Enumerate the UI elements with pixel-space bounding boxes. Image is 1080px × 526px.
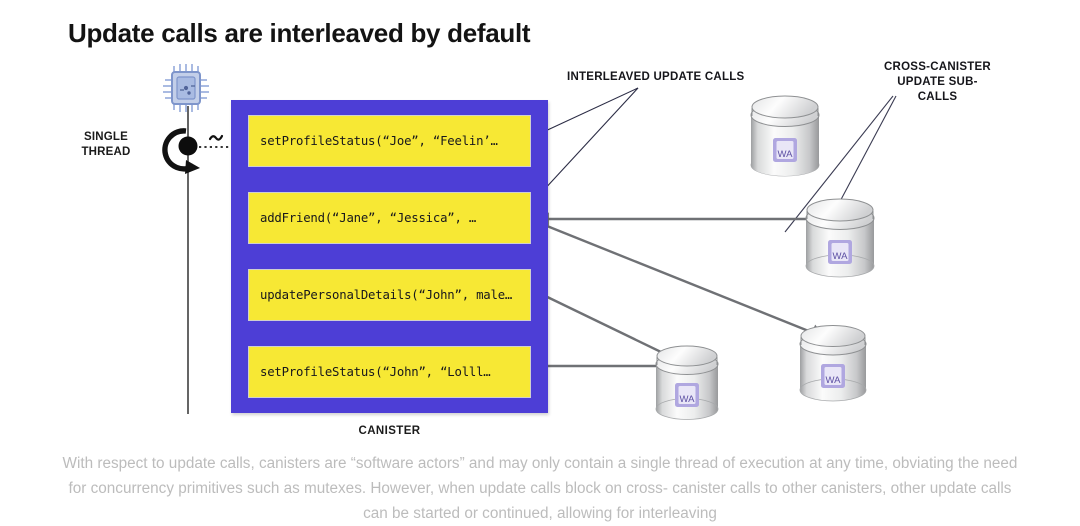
annotation-cross-canister-line1: CROSS-CANISTER — [880, 60, 995, 75]
annotation-cross-canister-sub-calls: CROSS-CANISTER UPDATE SUB-CALLS — [880, 60, 995, 105]
thread-pointer-dot — [179, 137, 198, 156]
remote-canister-bottom: WA — [656, 346, 718, 420]
update-call-box-4[interactable]: setProfileStatus(“John”, “Lolll… — [248, 346, 531, 398]
subcall-arrow-box2-to-lower-drum — [537, 222, 826, 338]
canister-label: CANISTER — [231, 425, 548, 437]
single-thread-label: SINGLE THREAD — [74, 130, 138, 159]
svg-text:WA: WA — [680, 394, 696, 405]
caption-line1: With respect to update calls, canisters … — [63, 455, 851, 472]
slide-canvas: Update calls are interleaved by default — [0, 0, 1080, 512]
remote-canister-top: WA — [751, 96, 819, 176]
slide-caption: With respect to update calls, canisters … — [62, 452, 1018, 526]
update-call-box-2[interactable]: addFriend(“Jane”, “Jessica”, … — [248, 192, 531, 244]
squiggle-icon — [210, 136, 222, 140]
single-thread-label-line2: THREAD — [74, 145, 138, 160]
canister-box: setProfileStatus(“Joe”, “Feelin’… addFri… — [231, 100, 548, 413]
single-thread-label-line1: SINGLE — [74, 130, 138, 145]
remote-canister-lower-right: WA — [800, 326, 866, 402]
update-call-box-1[interactable]: setProfileStatus(“Joe”, “Feelin’… — [248, 115, 531, 167]
annotation-cross-canister-line2: UPDATE SUB-CALLS — [880, 75, 995, 105]
svg-text:WA: WA — [778, 149, 794, 160]
svg-text:WA: WA — [833, 251, 849, 262]
remote-canister-middle: WA — [806, 199, 874, 277]
annotation-interleaved-update-calls: INTERLEAVED UPDATE CALLS — [567, 70, 744, 85]
cpu-chip-icon — [163, 64, 209, 112]
update-call-box-3[interactable]: updatePersonalDetails(“John”, male… — [248, 269, 531, 321]
svg-text:WA: WA — [826, 375, 842, 386]
